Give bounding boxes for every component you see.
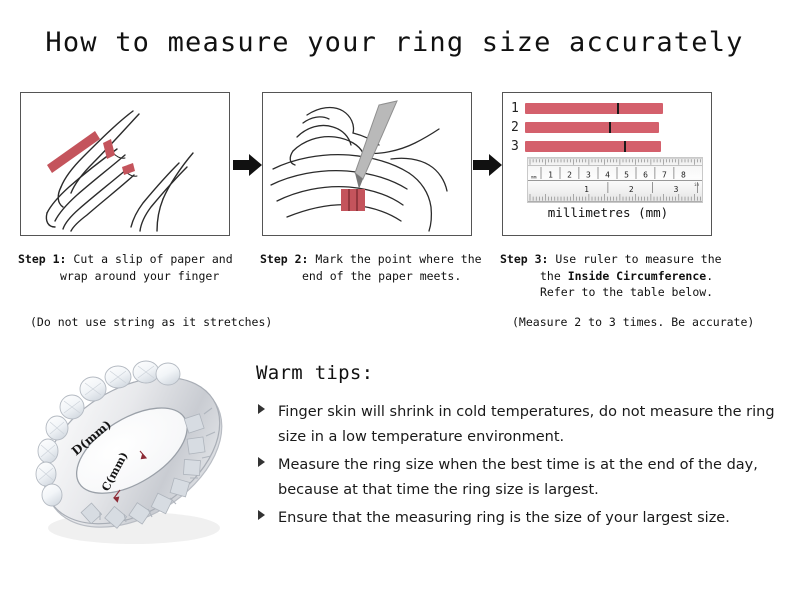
svg-text:5: 5 — [624, 171, 629, 180]
strip-mark-3 — [624, 141, 626, 152]
svg-text:6: 6 — [643, 171, 648, 180]
ruler-scales: 12345678 mm 123 in — [528, 158, 702, 202]
paper-strip-2 — [525, 122, 659, 133]
strip-number-3: 3 — [511, 139, 525, 154]
step-1-caption: Step 1: Cut a slip of paper and wrap aro… — [18, 251, 253, 284]
ring-size-guide-infographic: How to measure your ring size accurately — [0, 0, 789, 606]
step-1-note: (Do not use string as it stretches) — [30, 315, 272, 329]
step-3-line2-suffix: . — [706, 269, 713, 283]
warm-tip-item-3: Ensure that the measuring ring is the si… — [256, 506, 776, 531]
step-1-panel — [20, 92, 230, 236]
step-3-label: Step 3: — [500, 252, 548, 266]
step-3-line2-emphasis: Inside Circumference — [568, 269, 706, 283]
measured-strip-row-3: 3 — [511, 139, 661, 154]
steps-panel-row: 1 2 3 — [0, 92, 789, 238]
measured-strip-row-1: 1 — [511, 101, 663, 116]
strip-mark-1 — [617, 103, 619, 114]
paper-strip-1 — [525, 103, 663, 114]
warm-tip-item-1: Finger skin will shrink in cold temperat… — [256, 400, 776, 450]
arrow-right-icon-1 — [233, 152, 263, 178]
svg-text:7: 7 — [662, 171, 667, 180]
step-2-caption-line2: end of the paper meets. — [260, 268, 495, 285]
svg-text:3: 3 — [586, 171, 591, 180]
svg-text:1: 1 — [548, 171, 553, 180]
step-3-caption: Step 3: Use ruler to measure the the Ins… — [500, 251, 750, 301]
ruler-unit-caption: millimetres (mm) — [503, 205, 712, 220]
triangle-bullet-icon — [258, 404, 265, 414]
ruler-mm-unit-label: mm — [531, 176, 537, 181]
svg-text:2: 2 — [629, 185, 634, 194]
step-3-note: (Measure 2 to 3 times. Be accurate) — [512, 315, 754, 329]
warm-tip-text-3: Ensure that the measuring ring is the si… — [278, 510, 730, 526]
step-3-panel: 1 2 3 — [502, 92, 712, 236]
step-3-caption-line2: the Inside Circumference. — [500, 268, 750, 285]
warm-tip-text-1: Finger skin will shrink in cold temperat… — [278, 404, 775, 445]
step-2-caption-line1: Mark the point where the — [315, 252, 481, 266]
step-2-label: Step 2: — [260, 252, 308, 266]
step-2-caption: Step 2: Mark the point where the end of … — [260, 251, 495, 284]
hand-marking-paper-with-pen-illustration — [263, 93, 470, 234]
triangle-bullet-icon — [258, 510, 265, 520]
step-2-panel — [262, 92, 472, 236]
step-3-line2-prefix: the — [540, 269, 568, 283]
ring-illustration: D(mm) C(mm) — [18, 358, 250, 563]
ruler-graphic: 12345678 mm 123 in — [527, 157, 703, 203]
strip-mark-2 — [609, 122, 611, 133]
paper-strip-3 — [525, 141, 661, 152]
strip-number-2: 2 — [511, 120, 525, 135]
arrow-right-icon-2 — [473, 152, 503, 178]
svg-text:in: in — [694, 182, 700, 187]
step-3-caption-line1: Use ruler to measure the — [555, 252, 721, 266]
svg-text:3: 3 — [674, 185, 679, 194]
svg-text:2: 2 — [567, 171, 572, 180]
warm-tips-heading: Warm tips: — [256, 362, 776, 384]
hand-with-paper-strip-illustration — [21, 93, 228, 234]
step-3-caption-line3: Refer to the table below. — [500, 284, 750, 301]
warm-tip-text-2: Measure the ring size when the best time… — [278, 457, 758, 498]
paper-strip-marked — [341, 189, 365, 211]
step-1-caption-line2: wrap around your finger — [18, 268, 253, 285]
warm-tips-section: Warm tips: Finger skin will shrink in co… — [256, 362, 776, 534]
svg-text:4: 4 — [605, 171, 610, 180]
page-title: How to measure your ring size accurately — [0, 27, 789, 58]
measured-strip-row-2: 2 — [511, 120, 659, 135]
eternity-ring-diagram: D(mm) C(mm) — [18, 358, 250, 563]
svg-text:8: 8 — [681, 171, 686, 180]
triangle-bullet-icon — [258, 457, 265, 467]
warm-tip-item-2: Measure the ring size when the best time… — [256, 453, 776, 503]
svg-text:1: 1 — [584, 185, 589, 194]
step-1-caption-line1: Cut a slip of paper and — [73, 252, 232, 266]
strip-number-1: 1 — [511, 101, 525, 116]
step-1-label: Step 1: — [18, 252, 66, 266]
